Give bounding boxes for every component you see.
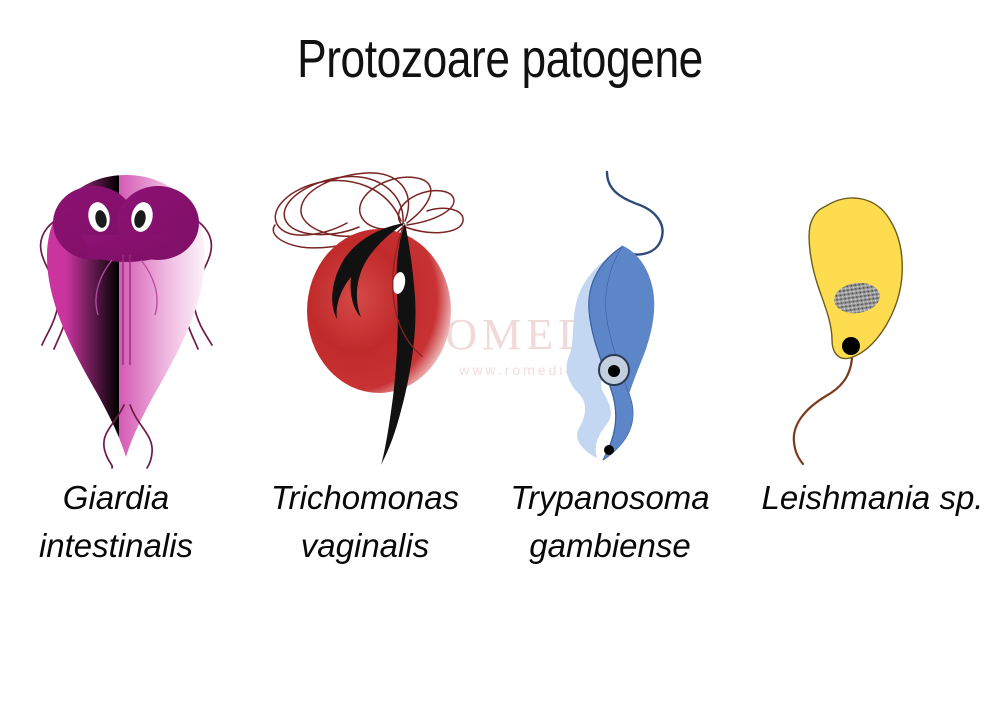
caption-trichomonas: Trichomonas vaginalis — [240, 474, 490, 570]
figure-trichomonas — [255, 165, 490, 470]
leishmania-kinetoplast — [842, 337, 860, 355]
illustration-canvas: Protozoare patogene ROMEDIC www.romedic.… — [0, 0, 1000, 707]
trypanosoma-free-flagellum — [607, 172, 663, 255]
caption-giardia: Giardia intestinalis — [6, 474, 226, 570]
caption-trypanosoma: Trypanosoma gambiense — [485, 474, 735, 570]
leishmania-body — [809, 198, 902, 359]
trypanosoma-nucleus — [599, 355, 629, 385]
giardia-nuclei-bridge — [82, 235, 170, 262]
caption-leishmania: Leishmania sp. — [735, 474, 1000, 522]
figure-trypanosoma — [545, 160, 695, 470]
trypanosoma-kinetoplast — [604, 445, 614, 455]
trichomonas-body — [307, 229, 451, 393]
page-title: Protozoare patogene — [90, 28, 910, 90]
figure-leishmania — [760, 180, 945, 465]
figure-giardia — [20, 165, 235, 470]
leishmania-flagellum — [794, 346, 852, 464]
